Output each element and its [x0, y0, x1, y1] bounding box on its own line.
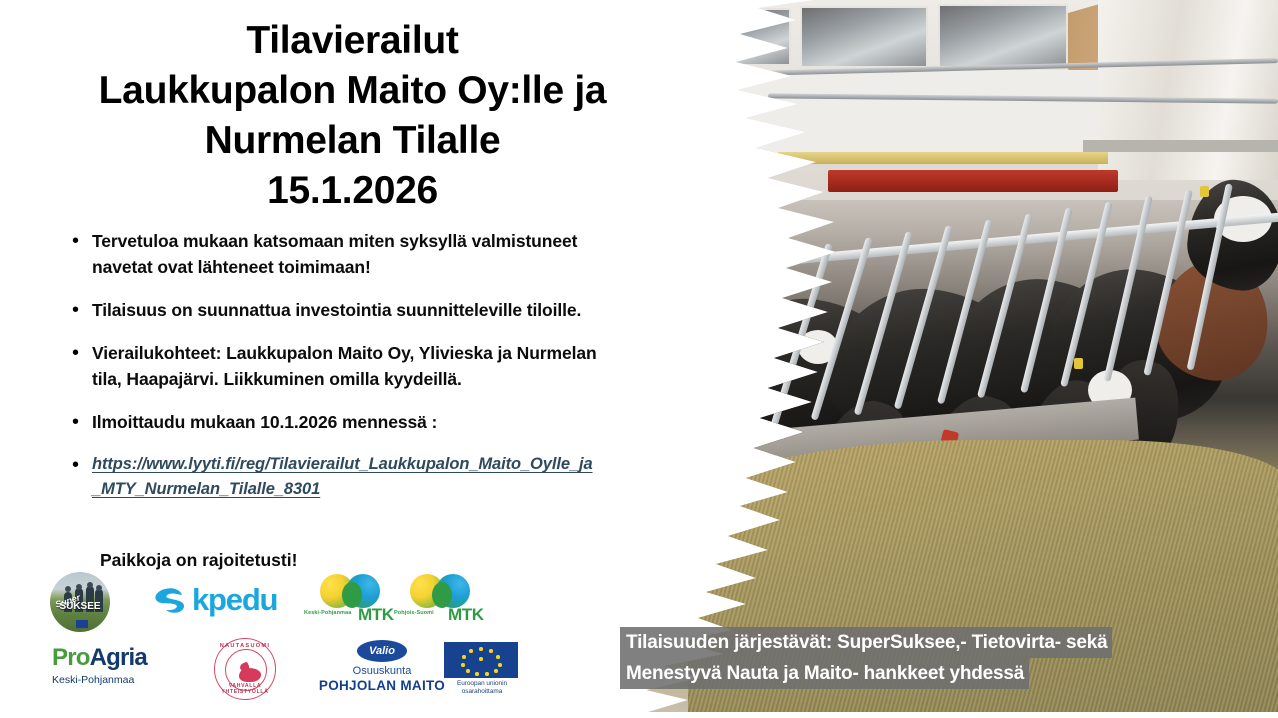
feed-fence-bar: [727, 249, 792, 432]
bullet-text: Tervetuloa mukaan katsomaan miten syksyl…: [92, 228, 598, 280]
proagria-wordmark: ProAgria: [52, 644, 182, 672]
barn-window-bank: [1098, 0, 1278, 180]
barn-wall: [724, 70, 1104, 156]
bullet-point-icon: •: [68, 409, 92, 435]
cow-silhouette-icon: [239, 668, 261, 682]
cow: [628, 315, 809, 484]
barn-photo-container: [628, 0, 1278, 712]
barn-window: [938, 4, 1068, 68]
mtk-circles-icon: [410, 574, 472, 608]
bullet-point-icon: •: [68, 340, 92, 366]
pohjolan-maito-wordmark: POHJOLAN MAITO: [312, 678, 452, 693]
supersuksee-name: SUKSEE: [56, 602, 104, 612]
eu-flag-icon: [444, 642, 518, 678]
organizers-caption: Tilaisuuden järjestävät: SuperSuksee,- T…: [620, 627, 1112, 689]
list-item: • Vierailukohteet: Laukkupalon Maito Oy,…: [68, 340, 598, 392]
feed-fence-bar: [644, 261, 712, 443]
proagria-logo: ProAgria Keski-Pohjanmaa: [52, 644, 182, 690]
feed-machine-red: [828, 170, 1118, 192]
list-item-registration-link[interactable]: • https://www.lyyti.fi/reg/Tilavierailut…: [68, 452, 598, 502]
ear-tag: [656, 470, 666, 482]
bullet-list: • Tervetuloa mukaan katsomaan miten syks…: [68, 228, 598, 519]
limited-seats-note: Paikkoja on rajoitetusti!: [100, 548, 297, 572]
bullet-text: Tilaisuus on suunnattua investointia suu…: [92, 297, 598, 323]
title-line-1: Tilavierailut: [60, 16, 645, 66]
pohjolan-maito-coop-label: Osuuskunta: [312, 665, 452, 677]
proagria-pro-text: Pro: [52, 644, 90, 671]
ear-tag: [1200, 186, 1209, 197]
sponsor-logo-row-secondary: ProAgria Keski-Pohjanmaa NAUTASUOMI VAHV…: [46, 636, 566, 708]
caption-line-1: Tilaisuuden järjestävät: SuperSuksee,- T…: [620, 627, 1112, 658]
kpedu-logo: kpedu: [152, 584, 292, 620]
barn-catwalk: [1083, 140, 1278, 152]
eu-caption-line-2: osarahoittama: [436, 688, 528, 696]
sponsor-logo-row-primary: Super SUKSEE kpedu Keski-Pohjanmaa MTK: [46, 570, 566, 632]
valio-brand-mark: Valio: [357, 640, 407, 662]
mtk-wordmark: MTK: [448, 605, 484, 625]
barn-window: [733, 8, 791, 66]
registration-link[interactable]: https://www.lyyti.fi/reg/Tilavierailut_L…: [92, 452, 598, 502]
eu-funding-logo: Euroopan unionin osarahoittama: [436, 642, 528, 698]
eu-caption-line-1: Euroopan unionin: [436, 680, 528, 688]
list-item: • Ilmoittaudu mukaan 10.1.2026 mennessä …: [68, 409, 598, 435]
barn-photo: [628, 0, 1278, 712]
title-line-2: Laukkupalon Maito Oy:lle ja: [60, 66, 645, 116]
feed-fence-bar: [628, 267, 673, 449]
mtk-wordmark: MTK: [358, 605, 394, 625]
barn-window: [800, 6, 928, 68]
pohjolan-maito-logo: Valio Osuuskunta POHJOLAN MAITO: [312, 640, 452, 698]
mtk-circles-icon: [320, 574, 382, 608]
title-line-4: 15.1.2026: [60, 166, 645, 216]
mtk-region-label: Pohjois-Suomi: [394, 610, 434, 616]
ear-tag: [1074, 358, 1083, 369]
supersuksee-logo: Super SUKSEE: [50, 572, 110, 632]
slide-canvas: Tilavierailut Laukkupalon Maito Oy:lle j…: [0, 0, 1278, 718]
feed-machine-yellow: [778, 152, 1108, 164]
kpedu-wordmark: kpedu: [192, 582, 277, 618]
nautasuomi-bottom-text: VAHVALLA YHTEISTYÖLLÄ: [215, 683, 275, 695]
bullet-point-icon: •: [68, 452, 92, 478]
bullet-point-icon: •: [68, 297, 92, 323]
slide-bottom-edge: [0, 712, 1278, 718]
eu-funding-caption: Euroopan unionin osarahoittama: [436, 680, 528, 696]
proagria-region-label: Keski-Pohjanmaa: [52, 674, 182, 686]
list-item: • Tilaisuus on suunnattua investointia s…: [68, 297, 598, 323]
bullet-text: Ilmoittaudu mukaan 10.1.2026 mennessä :: [92, 409, 598, 435]
mtk-pohjois-suomi-logo: Pohjois-Suomi MTK: [394, 574, 506, 628]
list-item: • Tervetuloa mukaan katsomaan miten syks…: [68, 228, 598, 280]
nautasuomi-logo: NAUTASUOMI VAHVALLA YHTEISTYÖLLÄ: [214, 638, 276, 700]
page-title: Tilavierailut Laukkupalon Maito Oy:lle j…: [60, 16, 645, 216]
feed-fence-bar: [687, 255, 752, 438]
kpedu-swoosh-icon: [152, 586, 186, 616]
nautasuomi-top-text: NAUTASUOMI: [215, 643, 275, 649]
proagria-agria-text: Agria: [90, 644, 147, 671]
barn-upper-structure: [628, 0, 1278, 200]
title-line-3: Nurmelan Tilalle: [60, 116, 645, 166]
bullet-text: Vierailukohteet: Laukkupalon Maito Oy, Y…: [92, 340, 598, 392]
caption-line-2: Menestyvä Nauta ja Maito- hankkeet yhdes…: [620, 658, 1029, 689]
bullet-point-icon: •: [68, 228, 92, 254]
eu-badge-icon: [76, 620, 88, 628]
cow-marking: [666, 500, 712, 556]
mtk-region-label: Keski-Pohjanmaa: [304, 610, 351, 616]
cow-head: [628, 410, 739, 549]
